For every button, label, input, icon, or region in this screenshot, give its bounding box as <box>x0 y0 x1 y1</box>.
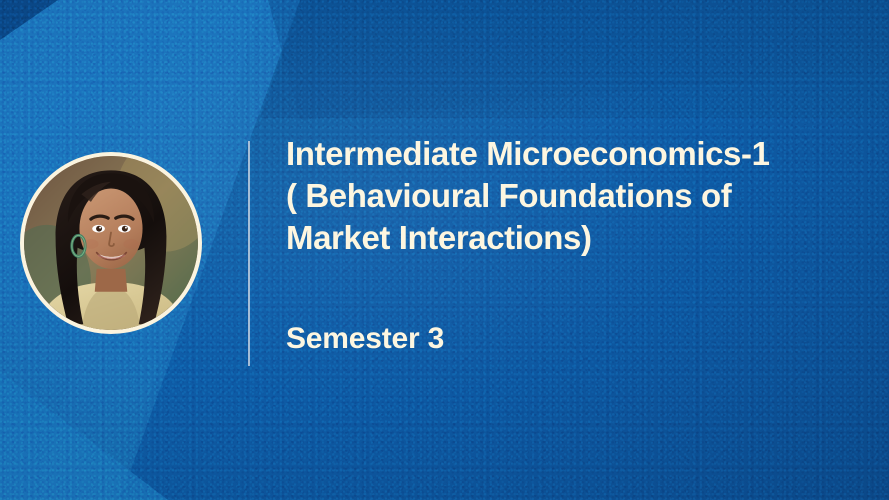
course-title-slide: Intermediate Microeconomics-1 ( Behaviou… <box>0 0 889 500</box>
instructor-portrait <box>20 152 202 334</box>
vertical-divider <box>248 141 250 366</box>
course-title: Intermediate Microeconomics-1 ( Behaviou… <box>286 133 886 260</box>
title-text-block: Intermediate Microeconomics-1 ( Behaviou… <box>286 133 886 260</box>
semester-label: Semester 3 <box>286 322 444 356</box>
portrait-illustration <box>24 156 198 330</box>
